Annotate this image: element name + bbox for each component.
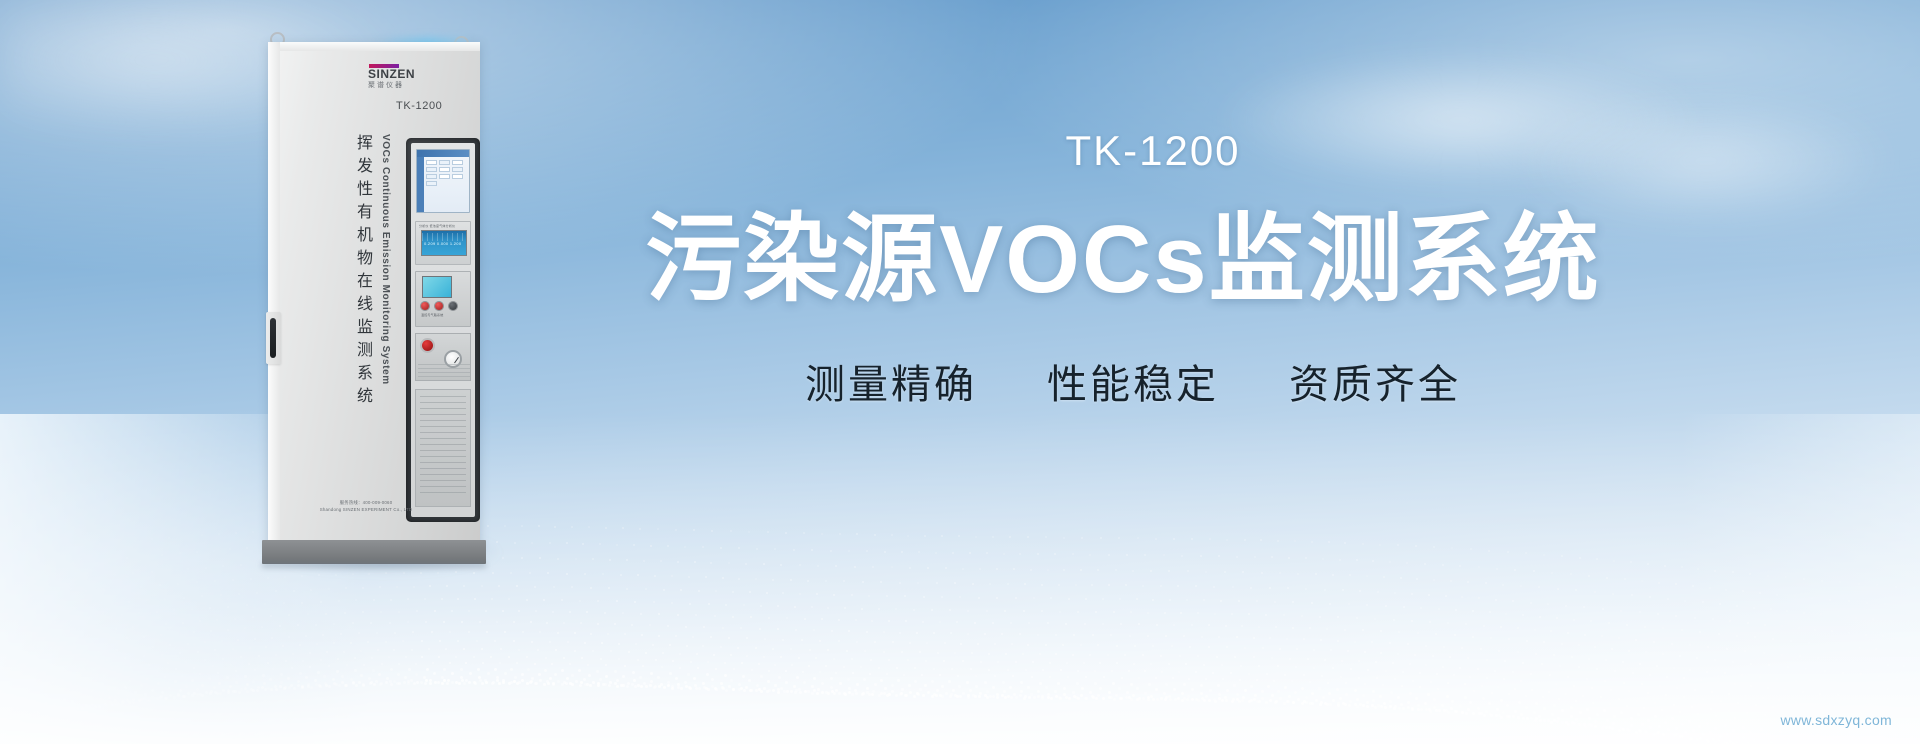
hmi-cell	[452, 174, 463, 179]
cabinet-door-edge	[268, 42, 280, 552]
hmi-cell	[426, 181, 437, 186]
vent-louvers	[420, 396, 466, 496]
pneumatic-module	[415, 333, 471, 381]
cabinet-model-plate: TK-1200	[396, 100, 442, 112]
feature-item-stability: 性能稳定	[1047, 352, 1219, 410]
hmi-cell	[426, 160, 437, 165]
feature-item-certification: 资质齐全	[1289, 352, 1461, 410]
footer-line-1: 服务热线：400-009-0060	[286, 500, 446, 507]
heater-knob-icon	[435, 302, 443, 310]
brand-name-cn: 聚谱仪器	[368, 82, 432, 90]
control-module: 温控与气路系统	[415, 271, 471, 327]
analyzer-display: 0.209 0.000 1.200	[421, 230, 467, 256]
product-model-label: TK-1200	[548, 130, 1698, 172]
hmi-cell	[439, 160, 450, 165]
hmi-sidebar	[417, 157, 424, 212]
hmi-titlebar	[417, 150, 469, 157]
feature-list: 测量精确 性能稳定 资质齐全	[548, 352, 1698, 410]
power-knob-icon	[421, 302, 429, 310]
analyzer-panel-label: 分析仪 低浓度气体分析仪	[419, 224, 470, 228]
banner-headline: 污染源VOCs监测系统	[548, 208, 1698, 312]
instrument-window: 分析仪 低浓度气体分析仪 0.209 0.000 1.200 温控与气路系统	[406, 138, 480, 522]
control-display	[422, 276, 452, 298]
vent-panel	[415, 389, 471, 507]
hmi-cell	[439, 167, 450, 172]
banner-copy: TK-1200 污染源VOCs监测系统 测量精确 性能稳定 资质齐全	[548, 130, 1698, 410]
sample-knob-icon	[449, 302, 457, 310]
hmi-cell	[426, 167, 437, 172]
hmi-data-cells	[426, 160, 467, 186]
control-knobs	[421, 302, 457, 310]
gas-analyzer-module: 分析仪 低浓度气体分析仪 0.209 0.000 1.200	[415, 221, 471, 265]
banner-stage: SINZEN 聚谱仪器 TK-1200 挥发性有机物在线监测系统 VOCs Co…	[0, 0, 1920, 744]
feature-item-accuracy: 测量精确	[805, 352, 977, 410]
cabinet-vertical-chinese-text: 挥发性有机物在线监测系统	[350, 134, 374, 410]
hmi-cell	[439, 174, 450, 179]
hmi-touch-screen	[416, 149, 470, 213]
product-cabinet: SINZEN 聚谱仪器 TK-1200 挥发性有机物在线监测系统 VOCs Co…	[258, 22, 508, 582]
cabinet-base-plinth	[262, 540, 486, 564]
hmi-cell	[426, 174, 437, 179]
cabinet-footer-plate: 服务热线：400-009-0060 Shandong SINZEN EXPERI…	[286, 500, 446, 513]
site-watermark: www.sdxzyq.com	[1780, 712, 1892, 728]
cabinet-vertical-english-text: VOCs Continuous Emission Monitoring Syst…	[380, 134, 391, 385]
tubing-bundle	[418, 364, 470, 378]
hmi-cell	[452, 167, 463, 172]
cabinet-door-handle	[266, 312, 281, 364]
cabinet-top-cap	[268, 42, 480, 51]
cabinet-base-shadow	[262, 562, 486, 568]
footer-line-2: Shandong SINZEN EXPERIMENT Co., LTD	[286, 507, 446, 514]
analyzer-waveform	[422, 233, 466, 241]
control-label: 温控与气路系统	[421, 313, 443, 317]
emergency-stop-icon	[422, 340, 433, 351]
handle-grip	[270, 318, 276, 358]
brand-name: SINZEN	[368, 68, 432, 82]
cabinet-brand-logo: SINZEN 聚谱仪器	[368, 64, 432, 90]
analyzer-reading: 0.209 0.000 1.200	[424, 241, 461, 246]
hmi-cell	[452, 160, 463, 165]
instrument-rack: 分析仪 低浓度气体分析仪 0.209 0.000 1.200 温控与气路系统	[411, 143, 475, 517]
